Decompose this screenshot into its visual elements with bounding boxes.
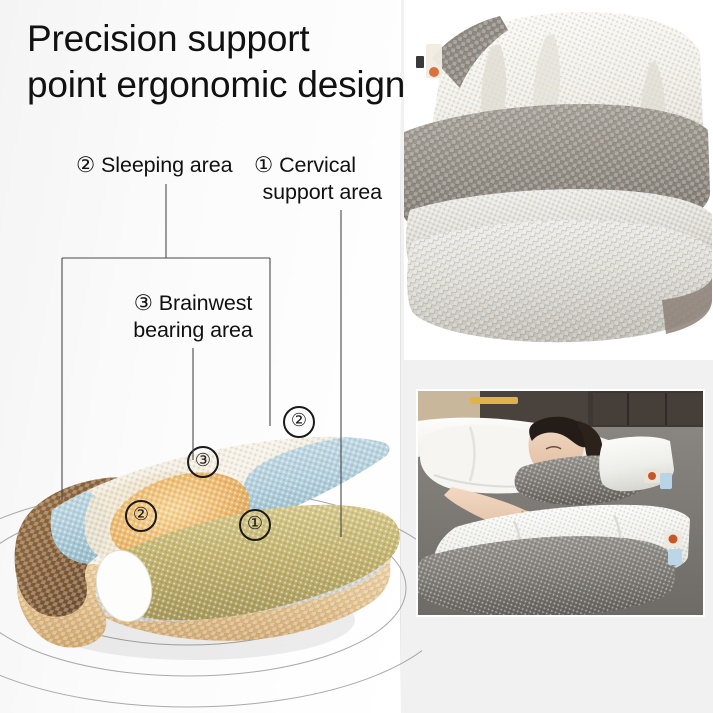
label-brainwest-bearing-area: ③ Brainwest bearing area bbox=[103, 290, 283, 344]
label-cervical-text1: Cervical bbox=[279, 153, 356, 177]
label-sleeping-area-text: ② Sleeping area bbox=[76, 153, 232, 177]
label-brainwest-line1: ③ Brainwest bbox=[103, 290, 283, 317]
label-cervical-line1: ① Cervical bbox=[254, 152, 382, 179]
label-brainwest-text1: Brainwest bbox=[159, 291, 253, 315]
label-brainwest-line2: bearing area bbox=[103, 317, 283, 344]
marker-1: ① bbox=[254, 153, 273, 177]
label-cervical-support-area: ① Cervical support area bbox=[254, 152, 382, 206]
woman-sleeping-lifestyle-photo bbox=[416, 389, 705, 617]
lifestyle-artwork bbox=[418, 391, 703, 615]
marker-3: ③ bbox=[134, 291, 153, 315]
stacked-pillows-artwork bbox=[404, 0, 713, 360]
label-sleeping-area: ② Sleeping area bbox=[76, 152, 232, 179]
label-cervical-line2: support area bbox=[254, 179, 382, 206]
infographic-canvas: Precision support point ergonomic design bbox=[0, 0, 713, 713]
leader-lines bbox=[0, 0, 401, 713]
stacked-pillows-product-photo bbox=[404, 0, 713, 360]
